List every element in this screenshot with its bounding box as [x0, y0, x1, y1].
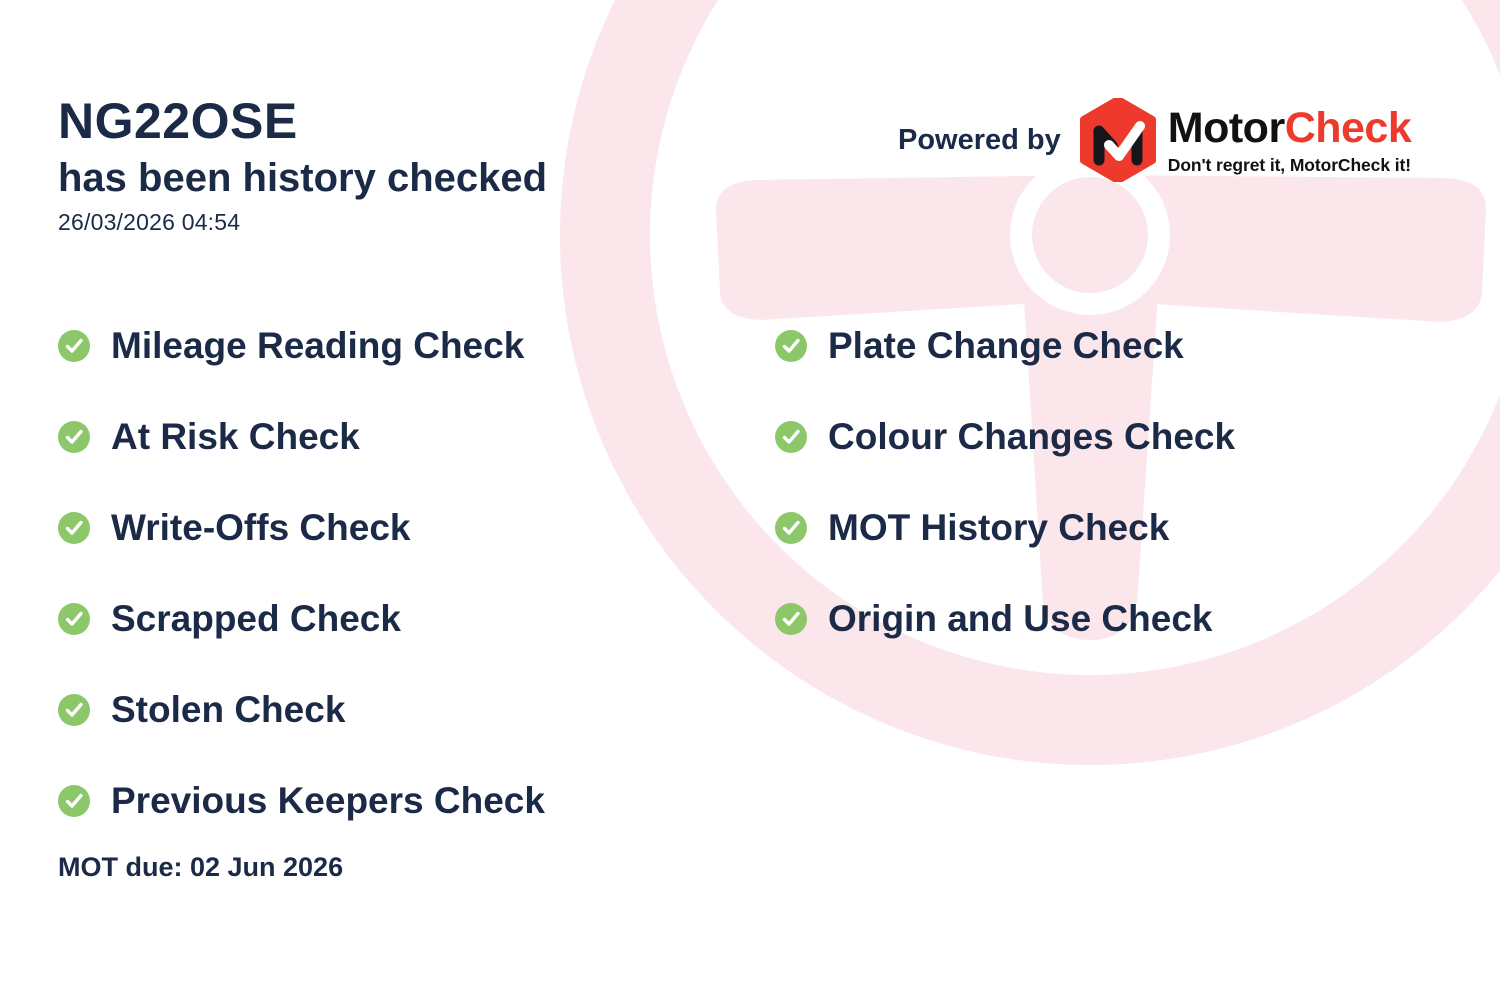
wordmark-check: Check	[1285, 104, 1412, 152]
check-item-mileage-reading: Mileage Reading Check	[58, 300, 545, 391]
check-circle-icon	[58, 694, 90, 726]
motorcheck-wordmark-block: MotorCheck Don't regret it, MotorCheck i…	[1168, 107, 1411, 176]
check-circle-icon	[775, 603, 807, 635]
check-label: Origin and Use Check	[828, 600, 1213, 637]
check-circle-icon	[775, 330, 807, 362]
check-item-scrapped: Scrapped Check	[58, 573, 545, 664]
mot-due-text: MOT due: 02 Jun 2026	[58, 852, 343, 883]
check-label: At Risk Check	[111, 418, 360, 455]
checks-left-column: Mileage Reading Check At Risk Check Writ…	[58, 300, 545, 846]
wheel-spoke-left	[716, 175, 1090, 320]
check-circle-icon	[58, 785, 90, 817]
page-title: has been history checked	[58, 156, 547, 201]
check-item-colour-changes: Colour Changes Check	[775, 391, 1235, 482]
check-label: Stolen Check	[111, 691, 345, 728]
check-label: Colour Changes Check	[828, 418, 1235, 455]
check-circle-icon	[775, 512, 807, 544]
check-timestamp: 26/03/2026 04:54	[58, 209, 547, 236]
check-label: Previous Keepers Check	[111, 782, 545, 819]
check-label: Plate Change Check	[828, 327, 1184, 364]
check-label: MOT History Check	[828, 509, 1169, 546]
branding-block: Powered by MotorCheck Don't regret it, M…	[898, 98, 1411, 182]
check-item-at-risk: At Risk Check	[58, 391, 545, 482]
check-label: Scrapped Check	[111, 600, 401, 637]
check-circle-icon	[58, 512, 90, 544]
check-item-plate-change: Plate Change Check	[775, 300, 1235, 391]
check-item-mot-history: MOT History Check	[775, 482, 1235, 573]
motorcheck-wordmark: MotorCheck	[1168, 107, 1411, 150]
powered-by-label: Powered by	[898, 124, 1061, 157]
check-item-origin-and-use: Origin and Use Check	[775, 573, 1235, 664]
check-circle-icon	[58, 330, 90, 362]
check-label: Mileage Reading Check	[111, 327, 524, 364]
motorcheck-logo[interactable]: MotorCheck Don't regret it, MotorCheck i…	[1079, 98, 1411, 182]
check-item-write-offs: Write-Offs Check	[58, 482, 545, 573]
checks-right-column: Plate Change Check Colour Changes Check …	[775, 300, 1235, 664]
check-circle-icon	[58, 603, 90, 635]
check-label: Write-Offs Check	[111, 509, 411, 546]
card-header: NG22OSE has been history checked 26/03/2…	[58, 96, 547, 236]
history-check-card: NG22OSE has been history checked 26/03/2…	[0, 0, 1500, 1000]
check-circle-icon	[775, 421, 807, 453]
registration-plate: NG22OSE	[58, 96, 547, 146]
motorcheck-tagline: Don't regret it, MotorCheck it!	[1168, 155, 1411, 176]
check-circle-icon	[58, 421, 90, 453]
motorcheck-hexagon-icon	[1079, 98, 1157, 182]
check-item-stolen: Stolen Check	[58, 664, 545, 755]
check-item-previous-keepers: Previous Keepers Check	[58, 755, 545, 846]
wordmark-motor: Motor	[1168, 104, 1285, 152]
